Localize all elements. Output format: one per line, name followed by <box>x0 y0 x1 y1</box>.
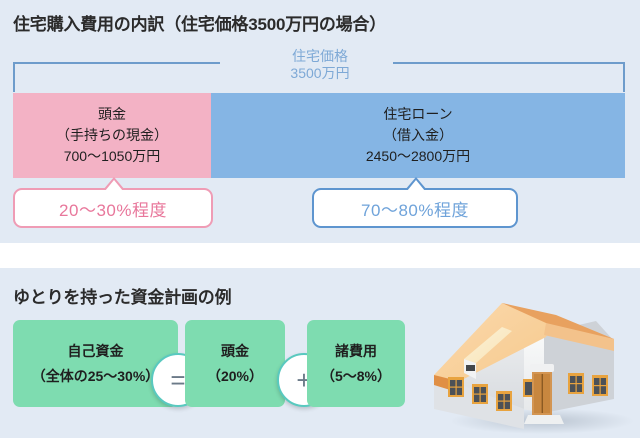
formula-box-own-funds: 自己資金 （全体の25〜30%） <box>13 320 178 407</box>
formula-down-payment-label: 頭金 <box>221 339 249 364</box>
house-door-split <box>542 374 543 413</box>
total-price-label: 住宅価格 3500万円 <box>0 48 640 82</box>
equals-symbol: = <box>170 367 185 393</box>
down-payment-percent-callout: 20〜30%程度 <box>13 188 213 228</box>
housing-loan-percent-callout: 70〜80%程度 <box>312 188 518 228</box>
formula-box-misc-fees: 諸費用 （5〜8%） <box>307 320 405 407</box>
house-porch-step <box>524 415 564 424</box>
housing-loan-percent-label: 70〜80%程度 <box>361 196 469 221</box>
down-payment-title: 頭金 <box>98 104 126 125</box>
house-illustration <box>424 281 636 436</box>
bar-segment-housing-loan: 住宅ローン （借入金） 2450〜2800万円 <box>211 93 625 178</box>
house-dormer-window <box>466 365 475 371</box>
own-funds-percent: （全体の25〜30%） <box>32 364 160 389</box>
housing-loan-title: 住宅ローン <box>383 104 452 125</box>
housing-loan-note: （借入金） <box>383 125 453 146</box>
down-payment-note: （手持ちの現金） <box>56 125 168 146</box>
formula-down-payment-percent: （20%） <box>207 364 263 389</box>
callout-pointer-fill <box>407 180 425 191</box>
down-payment-amount: 700〜1050万円 <box>64 146 161 167</box>
funding-plan-title: ゆとりを持った資金計画の例 <box>13 283 231 308</box>
misc-fees-label: 諸費用 <box>335 339 377 364</box>
down-payment-percent-label: 20〜30%程度 <box>59 196 167 221</box>
funding-formula: 自己資金 （全体の25〜30%） = 頭金 （20%） + 諸費用 （5〜8%） <box>13 320 405 407</box>
misc-fees-percent: （5〜8%） <box>321 364 391 389</box>
house-door-canopy <box>530 364 554 372</box>
callout-pointer-fill <box>105 180 123 191</box>
page-title: 住宅購入費用の内訳（住宅価格3500万円の場合） <box>13 10 386 35</box>
own-funds-label: 自己資金 <box>68 339 124 364</box>
cost-split-bar: 頭金 （手持ちの現金） 700〜1050万円 住宅ローン （借入金） 2450〜… <box>13 93 625 178</box>
housing-loan-amount: 2450〜2800万円 <box>366 146 470 167</box>
bar-segment-down-payment: 頭金 （手持ちの現金） 700〜1050万円 <box>13 93 211 178</box>
formula-box-down-payment: 頭金 （20%） <box>185 320 285 407</box>
